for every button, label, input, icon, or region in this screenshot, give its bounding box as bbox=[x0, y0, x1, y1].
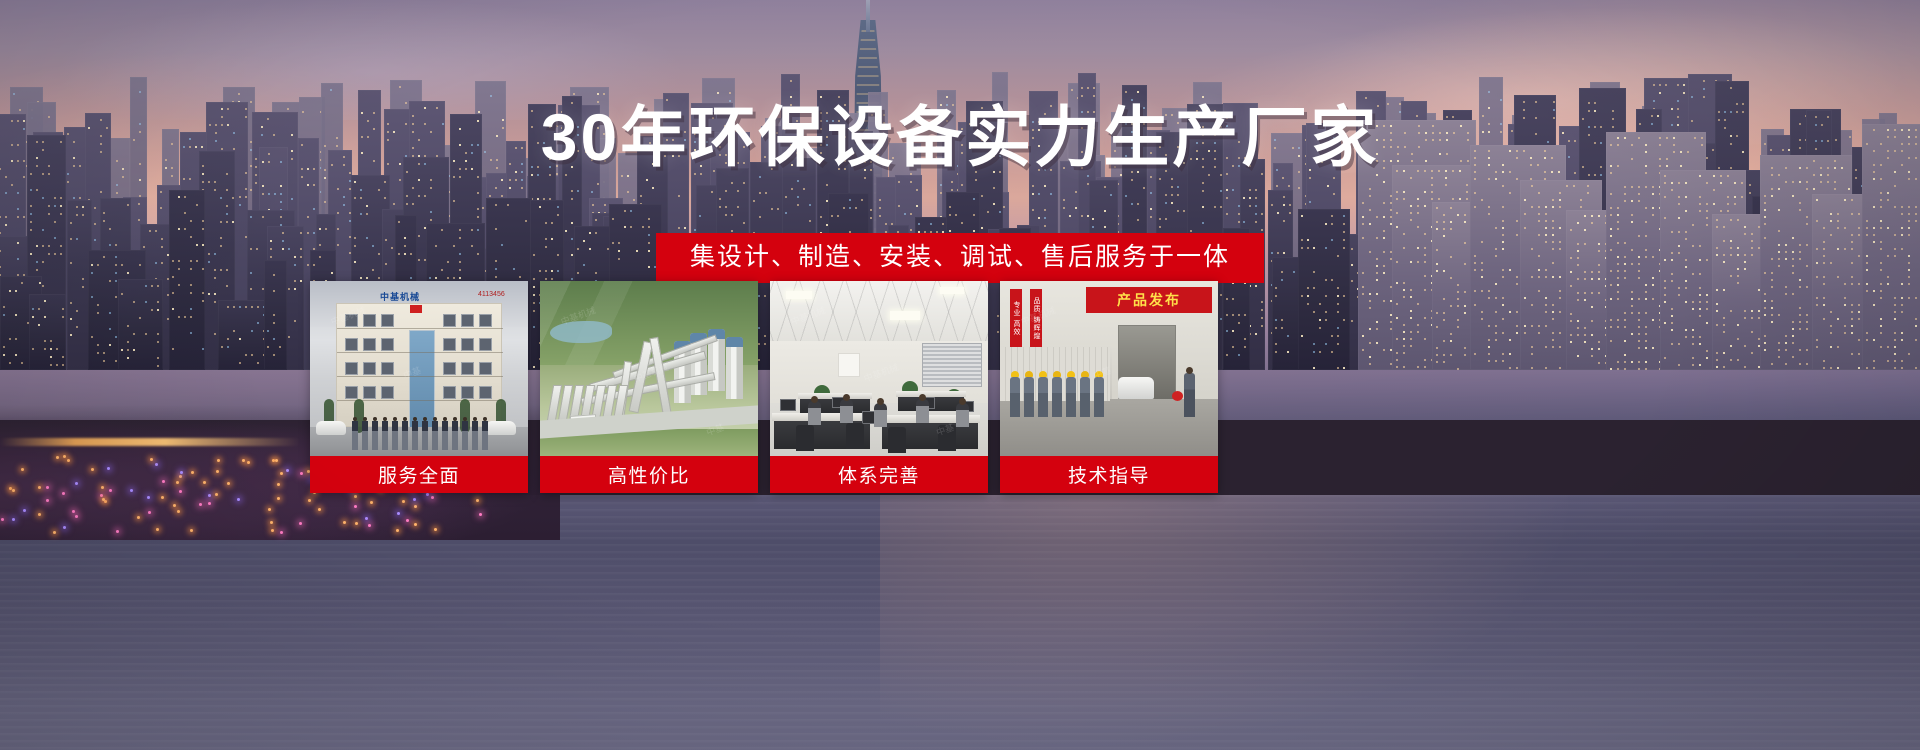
window-light bbox=[942, 223, 944, 225]
window-light bbox=[151, 285, 153, 287]
window-light bbox=[406, 203, 408, 205]
window-light bbox=[1087, 175, 1089, 177]
window-light bbox=[76, 310, 78, 312]
window-light bbox=[1261, 229, 1263, 231]
window-light bbox=[1202, 222, 1204, 224]
window-light bbox=[319, 228, 321, 230]
window-light bbox=[879, 215, 881, 217]
window-light bbox=[79, 197, 81, 199]
window-light bbox=[250, 216, 252, 218]
window-light bbox=[190, 316, 192, 318]
window-light bbox=[759, 192, 761, 194]
window-light bbox=[1309, 201, 1311, 203]
window-light bbox=[133, 349, 135, 351]
window-light bbox=[208, 181, 210, 183]
window-light bbox=[1553, 101, 1555, 103]
window-light bbox=[993, 187, 995, 189]
window-light bbox=[477, 208, 479, 210]
window-light bbox=[11, 184, 13, 186]
window-light bbox=[743, 182, 745, 184]
window-light bbox=[109, 328, 111, 330]
window-light bbox=[67, 173, 69, 175]
window-light bbox=[1177, 194, 1179, 196]
window-light bbox=[239, 196, 241, 198]
window-light bbox=[354, 181, 356, 183]
window-light bbox=[1282, 177, 1284, 179]
window-light bbox=[157, 301, 159, 303]
window-light bbox=[759, 176, 761, 178]
window-light bbox=[1226, 189, 1228, 191]
window-light bbox=[127, 325, 129, 327]
window-light bbox=[3, 306, 5, 308]
window-light bbox=[280, 201, 282, 203]
window-light bbox=[115, 360, 117, 362]
window-light bbox=[262, 185, 264, 187]
window-light bbox=[220, 197, 222, 199]
window-light bbox=[250, 101, 252, 103]
window-light bbox=[1351, 320, 1353, 322]
window-light bbox=[797, 180, 799, 182]
window-light bbox=[521, 179, 523, 181]
window-light bbox=[23, 176, 25, 178]
window-light bbox=[1177, 210, 1179, 212]
window-light bbox=[864, 177, 866, 179]
window-light bbox=[343, 196, 345, 198]
window-light bbox=[171, 175, 173, 177]
window-light bbox=[1855, 177, 1857, 179]
window-light bbox=[9, 338, 11, 340]
window-light bbox=[62, 316, 64, 318]
window-light bbox=[1159, 218, 1161, 220]
window-light bbox=[133, 301, 135, 303]
window-light bbox=[172, 348, 174, 350]
window-light bbox=[145, 301, 147, 303]
window-light bbox=[70, 318, 72, 320]
window-light bbox=[1261, 213, 1263, 215]
window-light bbox=[245, 172, 247, 174]
window-light bbox=[1226, 213, 1228, 215]
window-light bbox=[42, 285, 44, 287]
window-light bbox=[509, 179, 511, 181]
window-light bbox=[291, 198, 293, 200]
window-light bbox=[797, 196, 799, 198]
window-light bbox=[725, 190, 727, 192]
window-light bbox=[406, 171, 408, 173]
window-light bbox=[36, 189, 38, 191]
window-light bbox=[324, 201, 326, 203]
window-light bbox=[603, 93, 605, 95]
window-light bbox=[630, 210, 632, 212]
window-light bbox=[1703, 88, 1705, 90]
window-light bbox=[521, 187, 523, 189]
window-light bbox=[642, 226, 644, 228]
window-light bbox=[820, 96, 822, 98]
window-light bbox=[100, 191, 102, 193]
window-light bbox=[725, 206, 727, 208]
window-light bbox=[1081, 87, 1083, 89]
window-light bbox=[861, 199, 863, 201]
window-light bbox=[262, 193, 264, 195]
window-light bbox=[280, 193, 282, 195]
window-light bbox=[251, 306, 253, 308]
window-light bbox=[190, 332, 192, 334]
window-light bbox=[233, 330, 235, 332]
window-light bbox=[785, 212, 787, 214]
window-light bbox=[1703, 80, 1705, 82]
window-light bbox=[648, 226, 650, 228]
window-light bbox=[785, 196, 787, 198]
window-light bbox=[1208, 174, 1210, 176]
window-light bbox=[1044, 185, 1046, 187]
window-light bbox=[973, 214, 975, 216]
window-light bbox=[288, 336, 290, 338]
window-light bbox=[13, 93, 15, 95]
window-light bbox=[737, 206, 739, 208]
window-light bbox=[202, 220, 204, 222]
window-light bbox=[262, 216, 264, 218]
window-light bbox=[1050, 193, 1052, 195]
window-light bbox=[648, 218, 650, 220]
window-light bbox=[97, 312, 99, 314]
window-light bbox=[1087, 87, 1089, 89]
window-light bbox=[1232, 189, 1234, 191]
window-light bbox=[157, 341, 159, 343]
window-light bbox=[1081, 95, 1083, 97]
window-light bbox=[1659, 92, 1661, 94]
window-light bbox=[42, 173, 44, 175]
window-light bbox=[0, 216, 1, 218]
window-light bbox=[384, 181, 386, 183]
window-light bbox=[1327, 185, 1329, 187]
window-light bbox=[337, 188, 339, 190]
window-light bbox=[981, 195, 983, 197]
window-light bbox=[1032, 209, 1034, 211]
window-light bbox=[545, 222, 547, 224]
window-light bbox=[646, 179, 648, 181]
window-light bbox=[777, 208, 779, 210]
window-light bbox=[1104, 226, 1106, 228]
window-light bbox=[1131, 179, 1133, 181]
window-light bbox=[30, 173, 32, 175]
window-light bbox=[30, 229, 32, 231]
window-light bbox=[202, 181, 204, 183]
window-light bbox=[595, 219, 597, 221]
window-light bbox=[116, 192, 118, 194]
window-light bbox=[1202, 182, 1204, 184]
window-light bbox=[699, 215, 701, 217]
window-light bbox=[418, 195, 420, 197]
window-light bbox=[1220, 206, 1222, 208]
window-light bbox=[76, 206, 78, 208]
window-light bbox=[1488, 91, 1490, 93]
window-light bbox=[592, 204, 594, 206]
window-light bbox=[1255, 213, 1257, 215]
window-light bbox=[1261, 309, 1263, 311]
window-light bbox=[70, 334, 72, 336]
window-light bbox=[184, 196, 186, 198]
window-light bbox=[178, 196, 180, 198]
window-light bbox=[731, 182, 733, 184]
window-light bbox=[214, 181, 216, 183]
window-light bbox=[82, 206, 84, 208]
window-light bbox=[1594, 174, 1596, 176]
window-light bbox=[495, 204, 497, 206]
window-light bbox=[172, 292, 174, 294]
window-light bbox=[313, 208, 315, 210]
window-light bbox=[1177, 186, 1179, 188]
window-light bbox=[855, 207, 857, 209]
window-light bbox=[471, 229, 473, 231]
window-light bbox=[597, 183, 599, 185]
window-light bbox=[44, 316, 46, 318]
window-light bbox=[1159, 226, 1161, 228]
window-light bbox=[1069, 215, 1071, 217]
window-light bbox=[1071, 89, 1073, 91]
window-light bbox=[360, 213, 362, 215]
window-light bbox=[1171, 186, 1173, 188]
window-light bbox=[3, 314, 5, 316]
window-light bbox=[226, 173, 228, 175]
window-light bbox=[214, 333, 216, 335]
window-light bbox=[1171, 178, 1173, 180]
window-light bbox=[133, 333, 135, 335]
window-light bbox=[955, 214, 957, 216]
window-light bbox=[1165, 202, 1167, 204]
window-light bbox=[337, 228, 339, 230]
window-light bbox=[44, 300, 46, 302]
window-light bbox=[624, 210, 626, 212]
window-light bbox=[1104, 186, 1106, 188]
window-light bbox=[307, 216, 309, 218]
window-light bbox=[250, 288, 252, 290]
window-light bbox=[946, 96, 948, 98]
window-light bbox=[273, 322, 275, 324]
window-light bbox=[151, 309, 153, 311]
window-light bbox=[62, 308, 64, 310]
window-light bbox=[245, 354, 247, 356]
window-light bbox=[109, 312, 111, 314]
window-light bbox=[160, 207, 162, 209]
window-light bbox=[189, 178, 191, 180]
window-light bbox=[477, 216, 479, 218]
window-light bbox=[121, 293, 123, 295]
window-light bbox=[477, 229, 479, 231]
window-light bbox=[1243, 197, 1245, 199]
window-light bbox=[1255, 205, 1257, 207]
window-light bbox=[870, 209, 872, 211]
window-light bbox=[157, 333, 159, 335]
window-light bbox=[239, 338, 241, 340]
window-light bbox=[226, 285, 228, 287]
window-light bbox=[1032, 185, 1034, 187]
window-light bbox=[961, 184, 963, 186]
window-light bbox=[399, 179, 401, 181]
window-light bbox=[406, 195, 408, 197]
window-light bbox=[949, 206, 951, 208]
window-light bbox=[255, 182, 257, 184]
window-light bbox=[1271, 204, 1273, 206]
window-light bbox=[23, 216, 25, 218]
window-light bbox=[60, 197, 62, 199]
window-light bbox=[916, 189, 918, 191]
window-light bbox=[202, 348, 204, 350]
window-light bbox=[184, 316, 186, 318]
window-light bbox=[1255, 197, 1257, 199]
window-light bbox=[507, 204, 509, 206]
window-light bbox=[313, 184, 315, 186]
window-light bbox=[15, 290, 17, 292]
window-light bbox=[1749, 184, 1751, 186]
window-light bbox=[678, 195, 680, 197]
window-light bbox=[172, 308, 174, 310]
window-light bbox=[1261, 325, 1263, 327]
window-light bbox=[251, 354, 253, 356]
window-light bbox=[44, 348, 46, 350]
window-light bbox=[1243, 221, 1245, 223]
window-light bbox=[571, 222, 573, 224]
window-light bbox=[94, 207, 96, 209]
window-light bbox=[430, 211, 432, 213]
window-light bbox=[202, 173, 204, 175]
window-light bbox=[3, 346, 5, 348]
window-light bbox=[280, 216, 282, 218]
window-light bbox=[109, 344, 111, 346]
window-light bbox=[138, 219, 140, 221]
window-light bbox=[1171, 202, 1173, 204]
window-light bbox=[3, 354, 5, 356]
window-light bbox=[9, 362, 11, 364]
window-light bbox=[1075, 207, 1077, 209]
window-light bbox=[430, 219, 432, 221]
window-light bbox=[719, 198, 721, 200]
window-light bbox=[1183, 210, 1185, 212]
window-light bbox=[294, 288, 296, 290]
window-light bbox=[1165, 218, 1167, 220]
window-light bbox=[678, 227, 680, 229]
window-light bbox=[729, 92, 731, 94]
window-light bbox=[21, 362, 23, 364]
window-light bbox=[70, 222, 72, 224]
window-light bbox=[731, 230, 733, 232]
window-light bbox=[1283, 196, 1285, 198]
window-light bbox=[1125, 91, 1127, 93]
window-light bbox=[1535, 101, 1537, 103]
window-light bbox=[973, 198, 975, 200]
window-light bbox=[501, 179, 503, 181]
window-light bbox=[62, 364, 64, 366]
window-light bbox=[227, 338, 229, 340]
window-light bbox=[627, 191, 629, 193]
window-light bbox=[803, 188, 805, 190]
window-light bbox=[826, 184, 828, 186]
window-light bbox=[145, 285, 147, 287]
window-light bbox=[226, 205, 228, 207]
window-light bbox=[227, 346, 229, 348]
window-light bbox=[15, 338, 17, 340]
window-light bbox=[495, 228, 497, 230]
window-light bbox=[366, 205, 368, 207]
window-light bbox=[1137, 91, 1139, 93]
window-light bbox=[1214, 206, 1216, 208]
window-light bbox=[202, 228, 204, 230]
window-light bbox=[279, 346, 281, 348]
window-light bbox=[294, 320, 296, 322]
window-light bbox=[60, 213, 62, 215]
window-light bbox=[711, 191, 713, 193]
window-light bbox=[1165, 194, 1167, 196]
window-light bbox=[17, 208, 19, 210]
window-light bbox=[910, 213, 912, 215]
window-light bbox=[232, 197, 234, 199]
window-light bbox=[343, 204, 345, 206]
window-light bbox=[1171, 194, 1173, 196]
window-light bbox=[633, 199, 635, 201]
window-light bbox=[138, 203, 140, 205]
window-light bbox=[399, 86, 401, 88]
hero-banner: 30年环保设备实力生产厂家 集设计、制造、安装、调试、售后服务于一体 中基机械 … bbox=[0, 0, 1920, 750]
window-light bbox=[255, 174, 257, 176]
window-light bbox=[50, 356, 52, 358]
window-light bbox=[743, 222, 745, 224]
window-light bbox=[490, 95, 492, 97]
window-light bbox=[684, 227, 686, 229]
window-light bbox=[412, 187, 414, 189]
window-light bbox=[48, 205, 50, 207]
window-light bbox=[1092, 218, 1094, 220]
window-light bbox=[121, 349, 123, 351]
window-light bbox=[1093, 95, 1095, 97]
window-light bbox=[221, 346, 223, 348]
window-light bbox=[5, 216, 7, 218]
window-light bbox=[1730, 87, 1732, 89]
window-light bbox=[1283, 204, 1285, 206]
window-light bbox=[1081, 215, 1083, 217]
window-light bbox=[453, 200, 455, 202]
window-light bbox=[103, 360, 105, 362]
window-light bbox=[157, 309, 159, 311]
window-light bbox=[5, 192, 7, 194]
window-light bbox=[1261, 301, 1263, 303]
window-light bbox=[103, 212, 105, 214]
window-light bbox=[951, 189, 953, 191]
window-light bbox=[32, 308, 34, 310]
window-light bbox=[790, 80, 792, 82]
window-light bbox=[67, 181, 69, 183]
window-light bbox=[73, 197, 75, 199]
window-light bbox=[1137, 219, 1139, 221]
building-silhouette bbox=[118, 279, 163, 370]
window-light bbox=[268, 193, 270, 195]
window-light bbox=[1261, 317, 1263, 319]
window-light bbox=[515, 179, 517, 181]
window-light bbox=[482, 207, 484, 209]
window-light bbox=[1063, 207, 1065, 209]
window-light bbox=[1125, 195, 1127, 197]
window-light bbox=[38, 324, 40, 326]
window-light bbox=[54, 221, 56, 223]
window-light bbox=[267, 346, 269, 348]
window-light bbox=[549, 174, 551, 176]
window-light bbox=[30, 213, 32, 215]
window-light bbox=[981, 227, 983, 229]
window-light bbox=[1588, 174, 1590, 176]
window-light bbox=[430, 179, 432, 181]
window-light bbox=[424, 195, 426, 197]
window-light bbox=[531, 174, 533, 176]
window-light bbox=[378, 189, 380, 191]
window-light bbox=[849, 199, 851, 201]
window-light bbox=[273, 290, 275, 292]
